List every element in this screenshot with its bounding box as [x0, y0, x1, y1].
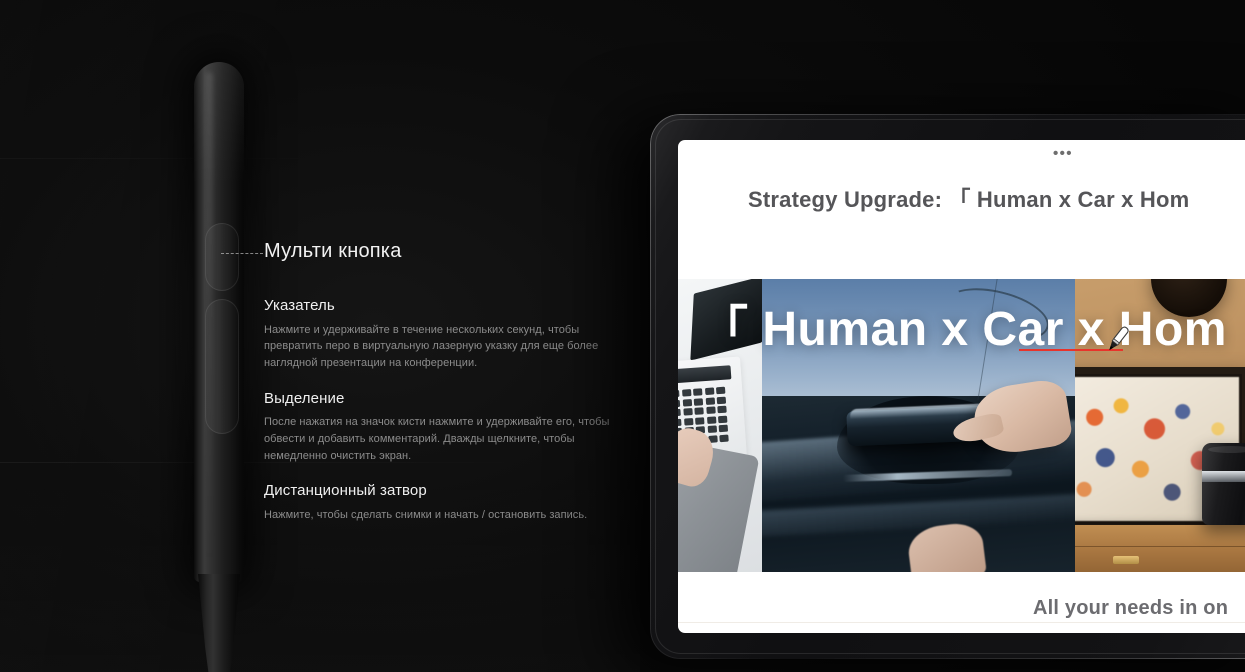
callout-leader-line	[221, 253, 263, 254]
overflow-menu-icon[interactable]: •••	[1053, 151, 1073, 157]
callout-title: Мульти кнопка	[264, 240, 616, 263]
home-interior-photo	[1075, 279, 1245, 572]
tablet-screen[interactable]: ••• Strategy Upgrade: 「 Human x Car x Ho…	[678, 140, 1245, 633]
feature-body: Нажмите и удерживайте в течение нескольк…	[264, 322, 616, 372]
feature-heading: Дистанционный затвор	[264, 481, 616, 501]
car-door-handle-photo	[762, 279, 1075, 572]
feature-body: После нажатия на значок кисти нажмите и …	[264, 414, 616, 464]
feature-callout-panel: Мульти кнопка Указатель Нажмите и удержи…	[264, 240, 616, 524]
photo-strip: 「 Human x Car x Hom	[678, 279, 1245, 572]
feature-section-remote-shutter: Дистанционный затвор Нажмите, чтобы сдел…	[264, 481, 616, 523]
product-feature-scene: Мульти кнопка Указатель Нажмите и удержи…	[0, 0, 1245, 672]
feature-section-highlight: Выделение После нажатия на значок кисти …	[264, 389, 616, 465]
slide-footer-rule	[678, 622, 1245, 623]
tablet-device: ••• Strategy Upgrade: 「 Human x Car x Ho…	[650, 114, 1245, 659]
slide-title: Strategy Upgrade: 「 Human x Car x Hom	[748, 182, 1245, 214]
stylus-pen[interactable]	[186, 62, 260, 670]
upper-multi-button[interactable]	[205, 223, 239, 291]
slide-subtitle: All your needs in on	[1033, 597, 1228, 620]
feature-heading: Указатель	[264, 296, 616, 316]
device-display-strip	[678, 365, 731, 383]
office-workspace-photo	[678, 279, 762, 572]
feature-section-pointer: Указатель Нажмите и удерживайте в течени…	[264, 296, 616, 372]
feature-heading: Выделение	[264, 389, 616, 409]
smart-speaker	[1202, 443, 1245, 525]
feature-body: Нажмите, чтобы сделать снимки и начать /…	[264, 507, 616, 524]
table-drawer	[1075, 546, 1245, 569]
lower-multi-button[interactable]	[205, 299, 239, 434]
drawer-handle	[1113, 556, 1139, 564]
